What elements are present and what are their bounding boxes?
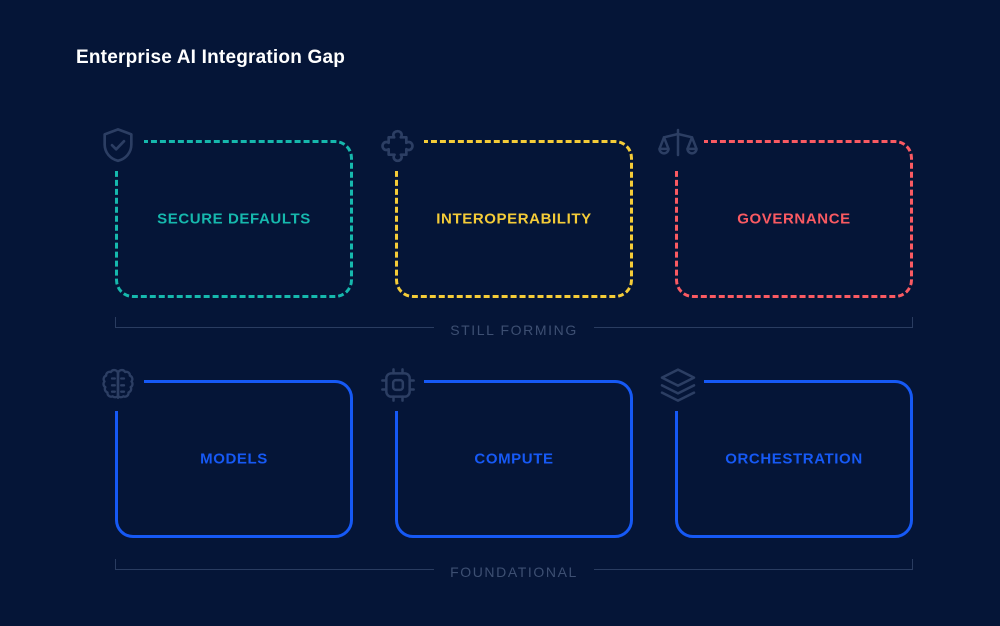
shield-check-icon <box>92 119 144 171</box>
card-label: ORCHESTRATION <box>678 451 910 468</box>
card-label: SECURE DEFAULTS <box>118 211 350 228</box>
divider-line-right <box>594 327 912 328</box>
divider-tick-right <box>912 559 913 570</box>
card-label: GOVERNANCE <box>678 211 910 228</box>
puzzle-piece-icon <box>372 119 424 171</box>
card-compute[interactable]: COMPUTE <box>395 380 633 538</box>
divider-label: STILL FORMING <box>434 322 594 338</box>
divider-label: FOUNDATIONAL <box>434 564 594 580</box>
divider-tick-right <box>912 317 913 328</box>
card-label: COMPUTE <box>398 451 630 468</box>
divider-line-left <box>116 327 434 328</box>
card-secure-defaults[interactable]: SECURE DEFAULTS <box>115 140 353 298</box>
page-title: Enterprise AI Integration Gap <box>76 47 345 69</box>
layers-icon <box>652 359 704 411</box>
balance-scales-icon <box>652 119 704 171</box>
diagram-canvas: Enterprise AI Integration Gap SECURE DEF… <box>0 0 1000 626</box>
divider-line-right <box>594 569 912 570</box>
card-governance[interactable]: GOVERNANCE <box>675 140 913 298</box>
divider-still-forming: STILL FORMING <box>115 317 913 341</box>
brain-icon <box>92 359 144 411</box>
divider-foundational: FOUNDATIONAL <box>115 559 913 583</box>
cpu-chip-icon <box>372 359 424 411</box>
card-label: MODELS <box>118 451 350 468</box>
card-interoperability[interactable]: INTEROPERABILITY <box>395 140 633 298</box>
card-orchestration[interactable]: ORCHESTRATION <box>675 380 913 538</box>
card-label: INTEROPERABILITY <box>398 211 630 228</box>
card-models[interactable]: MODELS <box>115 380 353 538</box>
divider-line-left <box>116 569 434 570</box>
